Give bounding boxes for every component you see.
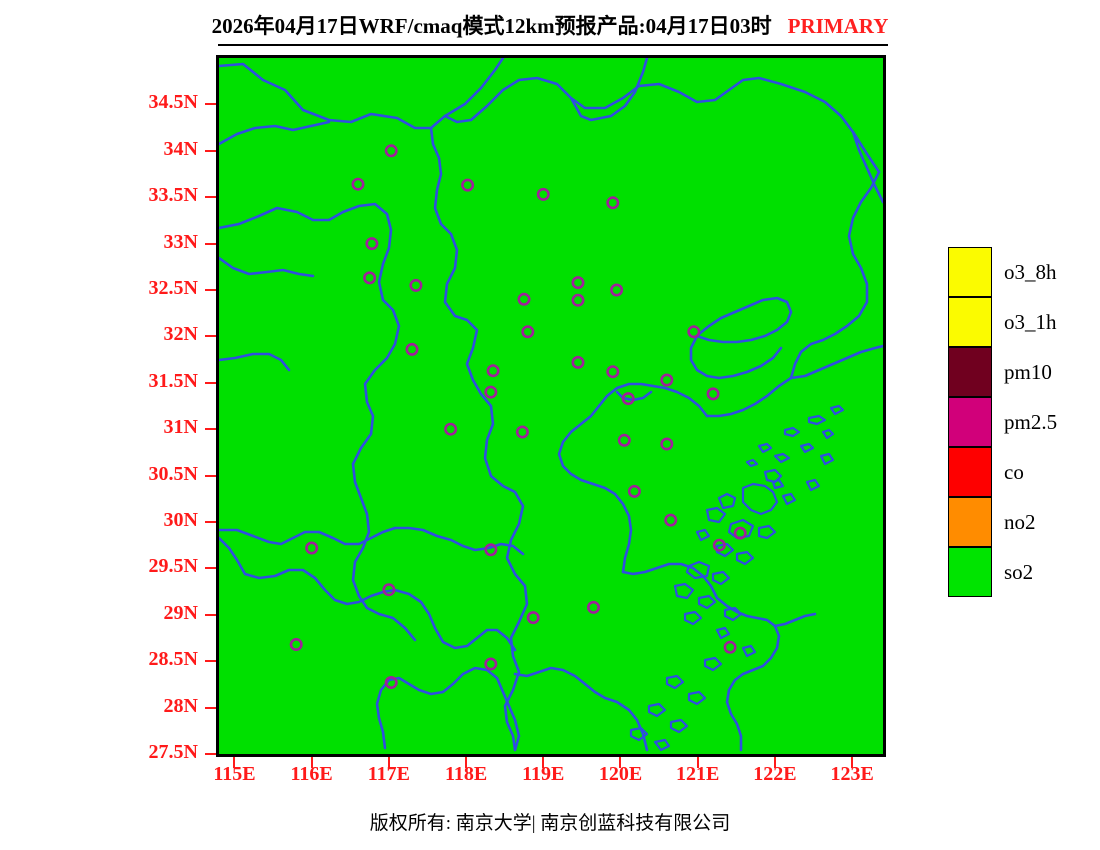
- station-marker[interactable]: [725, 642, 735, 652]
- x-axis-tick-mark: [619, 757, 621, 768]
- y-axis-tick-label: 32N: [108, 323, 198, 346]
- y-axis-tick-label: 29N: [108, 602, 198, 625]
- station-marker[interactable]: [619, 435, 629, 445]
- y-axis-tick-label: 28.5N: [108, 648, 198, 671]
- x-axis-tick-mark: [311, 757, 313, 768]
- y-axis-tick-mark: [205, 660, 216, 662]
- y-axis-tick-label: 29.5N: [108, 555, 198, 578]
- legend-item-label: o3_1h: [1004, 310, 1057, 335]
- station-marker[interactable]: [573, 277, 583, 287]
- x-axis-tick-mark: [233, 757, 235, 768]
- legend-item-label: so2: [1004, 560, 1033, 585]
- x-axis-tick-mark: [774, 757, 776, 768]
- station-marker[interactable]: [486, 659, 496, 669]
- station-marker[interactable]: [517, 427, 527, 437]
- legend-color-swatch: [948, 447, 992, 497]
- y-axis-tick-mark: [205, 243, 216, 245]
- station-marker[interactable]: [445, 424, 455, 434]
- title-underline-rule: [218, 44, 888, 46]
- y-axis-tick-mark: [205, 289, 216, 291]
- station-marker[interactable]: [523, 327, 533, 337]
- legend-color-swatch: [948, 247, 992, 297]
- y-axis-tick-mark: [205, 382, 216, 384]
- station-marker[interactable]: [291, 639, 301, 649]
- x-axis-tick-mark: [465, 757, 467, 768]
- station-marker[interactable]: [488, 366, 498, 376]
- station-marker[interactable]: [486, 387, 496, 397]
- legend-item-label: pm10: [1004, 360, 1052, 385]
- y-axis-tick-label: 27.5N: [108, 741, 198, 764]
- station-marker[interactable]: [386, 146, 396, 156]
- legend-item-label: co: [1004, 460, 1024, 485]
- y-axis-tick-mark: [205, 428, 216, 430]
- map-plot-area[interactable]: [216, 55, 886, 757]
- station-marker[interactable]: [708, 389, 718, 399]
- legend-color-swatch: [948, 347, 992, 397]
- station-marker[interactable]: [666, 515, 676, 525]
- y-axis-tick-label: 30N: [108, 509, 198, 532]
- station-marker[interactable]: [608, 198, 618, 208]
- station-marker[interactable]: [367, 238, 377, 248]
- y-axis-tick-label: 34N: [108, 138, 198, 161]
- legend-color-swatch: [948, 297, 992, 347]
- y-axis-tick-mark: [205, 614, 216, 616]
- y-axis-tick-mark: [205, 475, 216, 477]
- x-axis-tick-mark: [388, 757, 390, 768]
- station-marker[interactable]: [353, 179, 363, 189]
- station-marker[interactable]: [407, 344, 417, 354]
- station-marker[interactable]: [689, 327, 699, 337]
- title-main-text: 2026年04月17日WRF/cmaq模式12km预报产品:04月17日03时: [212, 14, 772, 38]
- y-axis-tick-mark: [205, 196, 216, 198]
- province-boundaries: [219, 58, 883, 750]
- legend-color-swatch: [948, 397, 992, 447]
- station-marker[interactable]: [608, 367, 618, 377]
- offshore-islands: [631, 406, 843, 750]
- title-primary-tag: PRIMARY: [788, 14, 889, 38]
- station-marker[interactable]: [462, 180, 472, 190]
- station-marker[interactable]: [538, 189, 548, 199]
- x-axis-tick-mark: [697, 757, 699, 768]
- y-axis-tick-label: 28N: [108, 695, 198, 718]
- chart-title: 2026年04月17日WRF/cmaq模式12km预报产品:04月17日03时P…: [0, 10, 1100, 40]
- legend-item-label: no2: [1004, 510, 1036, 535]
- station-marker-layer: [291, 146, 745, 688]
- y-axis-tick-label: 33N: [108, 231, 198, 254]
- station-marker[interactable]: [573, 295, 583, 305]
- y-axis-tick-mark: [205, 150, 216, 152]
- footer-copyright: 版权所有: 南京大学| 南京创蓝科技有限公司: [0, 808, 1100, 835]
- station-marker[interactable]: [662, 439, 672, 449]
- y-axis-tick-label: 31N: [108, 416, 198, 439]
- station-marker[interactable]: [307, 543, 317, 553]
- station-marker[interactable]: [573, 357, 583, 367]
- y-axis-tick-label: 33.5N: [108, 184, 198, 207]
- legend-color-swatch: [948, 547, 992, 597]
- y-axis-tick-label: 31.5N: [108, 370, 198, 393]
- legend-item-label: pm2.5: [1004, 410, 1057, 435]
- y-axis-tick-mark: [205, 521, 216, 523]
- y-axis-tick-mark: [205, 567, 216, 569]
- station-marker[interactable]: [611, 285, 621, 295]
- y-axis-tick-label: 34.5N: [108, 91, 198, 114]
- y-axis-tick-mark: [205, 753, 216, 755]
- legend-color-swatch: [948, 497, 992, 547]
- station-marker[interactable]: [588, 602, 598, 612]
- station-marker[interactable]: [519, 294, 529, 304]
- x-axis-tick-mark: [851, 757, 853, 768]
- y-axis-tick-mark: [205, 707, 216, 709]
- station-marker[interactable]: [528, 612, 538, 622]
- station-marker[interactable]: [364, 273, 374, 283]
- station-marker[interactable]: [662, 375, 672, 385]
- map-vector-layer: [219, 58, 883, 754]
- x-axis-tick-mark: [542, 757, 544, 768]
- station-marker[interactable]: [411, 280, 421, 290]
- y-axis-tick-label: 30.5N: [108, 463, 198, 486]
- y-axis-tick-mark: [205, 103, 216, 105]
- legend-item-label: o3_8h: [1004, 260, 1057, 285]
- station-marker[interactable]: [629, 486, 639, 496]
- y-axis-tick-mark: [205, 335, 216, 337]
- y-axis-tick-label: 32.5N: [108, 277, 198, 300]
